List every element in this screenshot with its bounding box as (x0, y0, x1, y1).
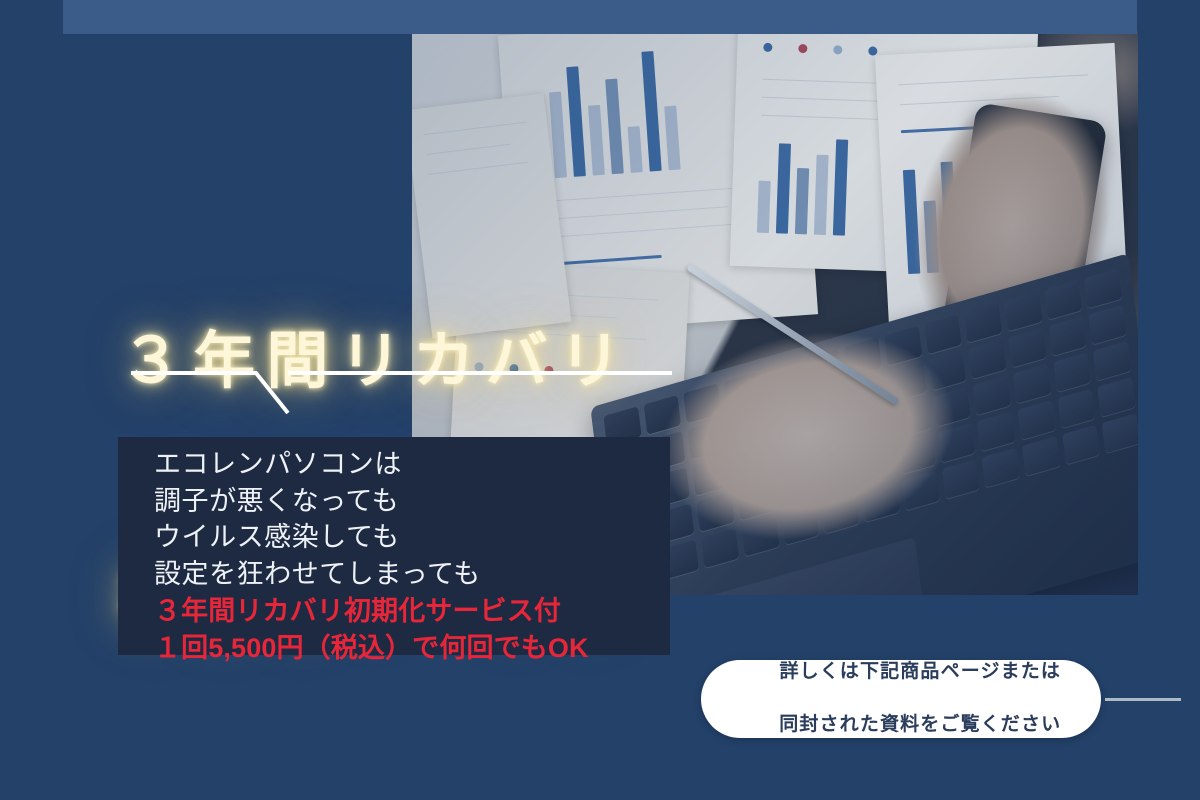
callout-line-1: 詳しくは下記商品ページまたは (779, 661, 1061, 682)
callout-text: 詳しくは下記商品ページまたは 同封された資料をご覧ください (741, 632, 1061, 767)
bubble-connector-line (1105, 698, 1181, 701)
benefits-text: エコレンパソコンは 調子が悪くなっても ウイルス感染しても 設定を狂わせてしまっ… (154, 446, 674, 666)
benefits-panel: エコレンパソコンは 調子が悪くなっても ウイルス感染しても 設定を狂わせてしまっ… (118, 437, 670, 655)
top-accent-band (63, 0, 1137, 34)
callout-line-2: 同封された資料をご覧ください (779, 714, 1061, 735)
benefit-line: エコレンパソコンは (154, 446, 674, 483)
headline-line-1: ３年間リカバリ (120, 322, 880, 401)
benefit-line: 設定を狂わせてしまっても (154, 556, 674, 593)
benefit-highlight-price: １回5,500円（税込）で何回でもOK (154, 630, 674, 667)
callout-bubble[interactable]: 詳しくは下記商品ページまたは 同封された資料をご覧ください (701, 660, 1101, 738)
promo-banner: ３年間リカバリ 初期化サービス エコレンパソコンは 調子が悪くなっても ウイルス… (0, 0, 1200, 800)
benefit-line: 調子が悪くなっても (154, 483, 674, 520)
benefit-line: ウイルス感染しても (154, 519, 674, 556)
benefit-highlight-service: ３年間リカバリ初期化サービス付 (154, 593, 674, 630)
